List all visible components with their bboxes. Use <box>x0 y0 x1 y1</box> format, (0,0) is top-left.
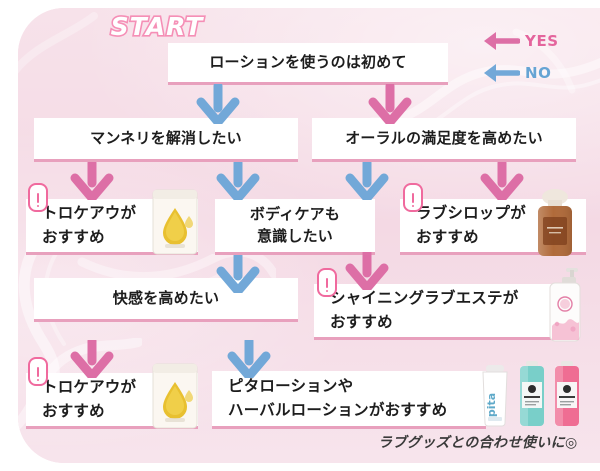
start-label: START <box>103 8 211 48</box>
arrow-down-yes-q4a-to-r5a <box>70 340 114 378</box>
arrow-down-no-q3b-to-q4a <box>216 255 260 293</box>
node-r4b[interactable]: シャイニングラブエステが おすすめ <box>314 284 576 340</box>
product-torokeau-pouch-bottom <box>145 360 205 432</box>
start-outline-text: START <box>103 8 211 44</box>
node-q2a[interactable]: マンネリを解消したい <box>34 118 298 162</box>
product-herbal-lotion-teal-bottle <box>516 360 548 430</box>
node-q1-text: ローションを使うのは初めて <box>209 52 406 73</box>
legend-yes-label: YES <box>525 32 559 50</box>
node-q2b-text: オーラルの満足度を高めたい <box>345 128 543 149</box>
legend-yes: YES <box>482 30 559 52</box>
node-r5b-text: ピタローションや ハーバルローションがおすすめ <box>212 375 447 422</box>
legend-no-label: NO <box>525 64 552 82</box>
product-herbal-lotion-pink-bottle <box>551 360 583 430</box>
exclamation-badge-icon <box>403 183 423 212</box>
exclamation-badge-icon <box>28 357 48 386</box>
product-pita-lotion-tube: pita <box>477 363 513 429</box>
legend-no: NO <box>482 62 552 84</box>
node-r5b[interactable]: ピタローションや ハーバルローションがおすすめ <box>212 371 486 429</box>
arrow-down-no-q2b-to-q3b <box>345 162 389 200</box>
arrow-down-yes-q3b-to-r4b <box>345 252 389 290</box>
arrow-down-no-q1-to-q2a <box>196 84 240 124</box>
arrow-down-yes-q1-to-q2b <box>368 84 412 124</box>
arrow-down-yes-q2a-to-r3a <box>70 162 114 200</box>
arrow-left-icon <box>482 30 520 52</box>
node-q1[interactable]: ローションを使うのは初めて <box>168 43 448 85</box>
arrow-left-icon <box>482 62 520 84</box>
node-q2b[interactable]: オーラルの満足度を高めたい <box>312 118 576 162</box>
flowchart-screenshot: START YES NO ローションを使うのは初めて マンネリを解消したい オー… <box>0 0 600 471</box>
start-text: START <box>111 12 205 41</box>
pita-tube-label: pita <box>485 393 498 417</box>
product-torokeau-pouch-top <box>145 186 205 258</box>
arrow-down-yes-q2b-to-r3c <box>480 162 524 200</box>
footer-caption: ラブグッズとの合わせ使いに◎ <box>378 432 578 452</box>
exclamation-badge-icon <box>317 268 337 297</box>
arrow-down-no-q2a-to-q3b <box>216 162 260 200</box>
exclamation-badge-icon <box>28 183 48 212</box>
product-love-syrup-bottle <box>530 187 580 261</box>
node-q2a-text: マンネリを解消したい <box>90 128 242 149</box>
node-r4b-text: シャイニングラブエステが おすすめ <box>314 287 518 334</box>
node-q4a-text: 快感を高めたい <box>113 288 219 309</box>
product-shining-love-este-bottle <box>540 266 588 346</box>
node-q3b[interactable]: ボディケアも 意識したい <box>215 199 375 255</box>
arrow-down-no-q4a-to-r5b <box>227 340 271 378</box>
node-q3b-text: ボディケアも 意識したい <box>250 204 340 247</box>
